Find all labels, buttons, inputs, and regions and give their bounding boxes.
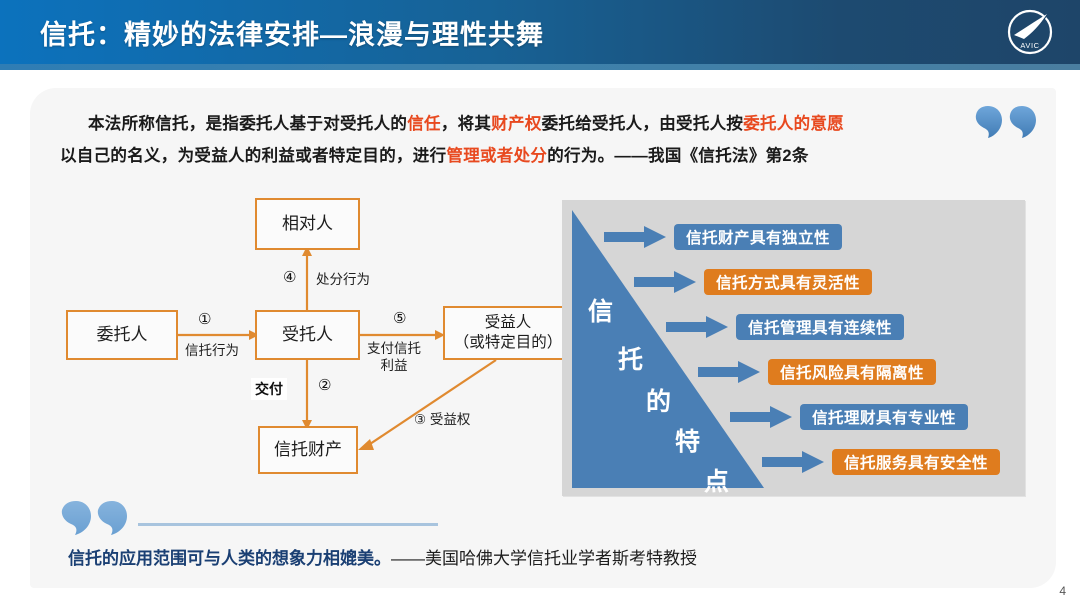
law-quote-line2-a: 以自己的名义，为受益人的利益或者特定目的，进行 xyxy=(60,147,446,165)
feature-pill-5: 信托理财具有专业性 xyxy=(800,404,968,430)
law-quote-highlight-property-right: 财产权 xyxy=(491,115,541,133)
diagram-label-num-1: ① xyxy=(198,310,211,328)
triangle-char-3: 特 xyxy=(675,422,700,458)
quote-mark-icon xyxy=(60,498,130,538)
diagram-label-num-5: ⑤ xyxy=(393,309,406,327)
diagram-label-benefit-right: ③ 受益权 xyxy=(414,411,470,428)
triangle-char-2: 的 xyxy=(646,382,671,418)
diagram-box-settlor: 委托人 xyxy=(66,310,178,360)
bottom-quote-attribution: ——美国哈佛大学信托业学者斯考特教授 xyxy=(391,549,697,568)
law-quote-line1-a: 本法所称信托，是指委托人基于对受托人的 xyxy=(88,115,407,133)
feature-row-3: 信托管理具有连续性 xyxy=(666,314,904,340)
law-quote-line2-b: 的行为。——我国《信托法》第2条 xyxy=(547,147,808,165)
feature-row-6: 信托服务具有安全性 xyxy=(762,449,1000,475)
arrow-right-icon xyxy=(762,451,824,473)
diagram-label-pay-benefit-line1: 支付信托 xyxy=(367,340,421,357)
bottom-quote-text: 信托的应用范围可与人类的想象力相媲美。 xyxy=(68,549,391,568)
diagram-box-beneficiary-line2: （或特定目的） xyxy=(454,333,563,353)
feature-row-1: 信托财产具有独立性 xyxy=(604,224,842,250)
triangle-char-4: 点 xyxy=(704,462,729,498)
feature-pill-1: 信托财产具有独立性 xyxy=(674,224,842,250)
law-quote-line1-b: ，将其 xyxy=(441,115,491,133)
diagram-label-pay-benefit: 支付信托 利益 xyxy=(367,340,421,374)
arrow-right-icon xyxy=(634,271,696,293)
law-quote-highlight-settlor-will: 委托人的意愿 xyxy=(743,115,844,133)
quote-mark-icon xyxy=(974,104,1040,140)
bottom-quote-block: 信托的应用范围可与人类的想象力相媲美。——美国哈佛大学信托业学者斯考特教授 xyxy=(68,548,697,570)
arrow-right-icon xyxy=(604,226,666,248)
feature-pill-2: 信托方式具有灵活性 xyxy=(704,269,872,295)
diagram-box-beneficiary: 受益人 （或特定目的） xyxy=(443,306,573,360)
diagram-label-trust-act: 信托行为 xyxy=(185,342,239,359)
trust-features-panel: 信 托 的 特 点 信托财产具有独立性 信托方式具有灵活性 信托管理具有连续性 xyxy=(562,200,1025,496)
triangle-char-0: 信 xyxy=(588,292,613,328)
feature-pill-6: 信托服务具有安全性 xyxy=(832,449,1000,475)
page-title: 信托：精妙的法律安排—浪漫与理性共舞 xyxy=(40,13,544,52)
page-number: 4 xyxy=(1059,584,1066,598)
diagram-box-counterparty: 相对人 xyxy=(255,198,360,250)
arrow-right-icon xyxy=(666,316,728,338)
diagram-label-pay-benefit-line2: 利益 xyxy=(367,357,421,374)
feature-pill-3: 信托管理具有连续性 xyxy=(736,314,904,340)
diagram-label-deliver: 交付 xyxy=(251,378,287,400)
diagram-box-trust-property: 信托财产 xyxy=(258,426,358,474)
diagram-label-disposal-act: 处分行为 xyxy=(316,271,370,288)
feature-row-5: 信托理财具有专业性 xyxy=(730,404,968,430)
arrow-right-icon xyxy=(730,406,792,428)
quote-divider-rule xyxy=(138,523,438,526)
logo-text: AVIC xyxy=(1020,41,1039,50)
diagram-box-beneficiary-line1: 受益人 xyxy=(454,313,563,333)
feature-row-4: 信托风险具有隔离性 xyxy=(698,359,936,385)
law-quote-line1-c: 委托给受托人，由受托人按 xyxy=(542,115,744,133)
diagram-label-num-2: ② xyxy=(318,376,331,394)
feature-pill-4: 信托风险具有隔离性 xyxy=(768,359,936,385)
law-quote-highlight-manage-dispose: 管理或者处分 xyxy=(446,147,547,165)
triangle-char-1: 托 xyxy=(618,340,643,376)
law-quote-block: 本法所称信托，是指委托人基于对受托人的信任，将其财产权委托给受托人，由受托人按委… xyxy=(88,108,988,172)
header-accent-underbar xyxy=(0,64,1080,70)
law-quote-highlight-trust: 信任 xyxy=(407,115,441,133)
arrow-right-icon xyxy=(698,361,760,383)
feature-row-2: 信托方式具有灵活性 xyxy=(634,269,872,295)
trust-relationship-diagram: 相对人 委托人 受托人 受益人 （或特定目的） 信托财产 ① 信托行为 ② 交付… xyxy=(30,198,570,488)
diagram-box-trustee: 受托人 xyxy=(255,310,360,360)
diagram-label-num-4: ④ xyxy=(283,268,296,286)
content-card: 本法所称信托，是指委托人基于对受托人的信任，将其财产权委托给受托人，由受托人按委… xyxy=(30,88,1056,588)
avic-logo-icon: AVIC xyxy=(1004,6,1056,58)
